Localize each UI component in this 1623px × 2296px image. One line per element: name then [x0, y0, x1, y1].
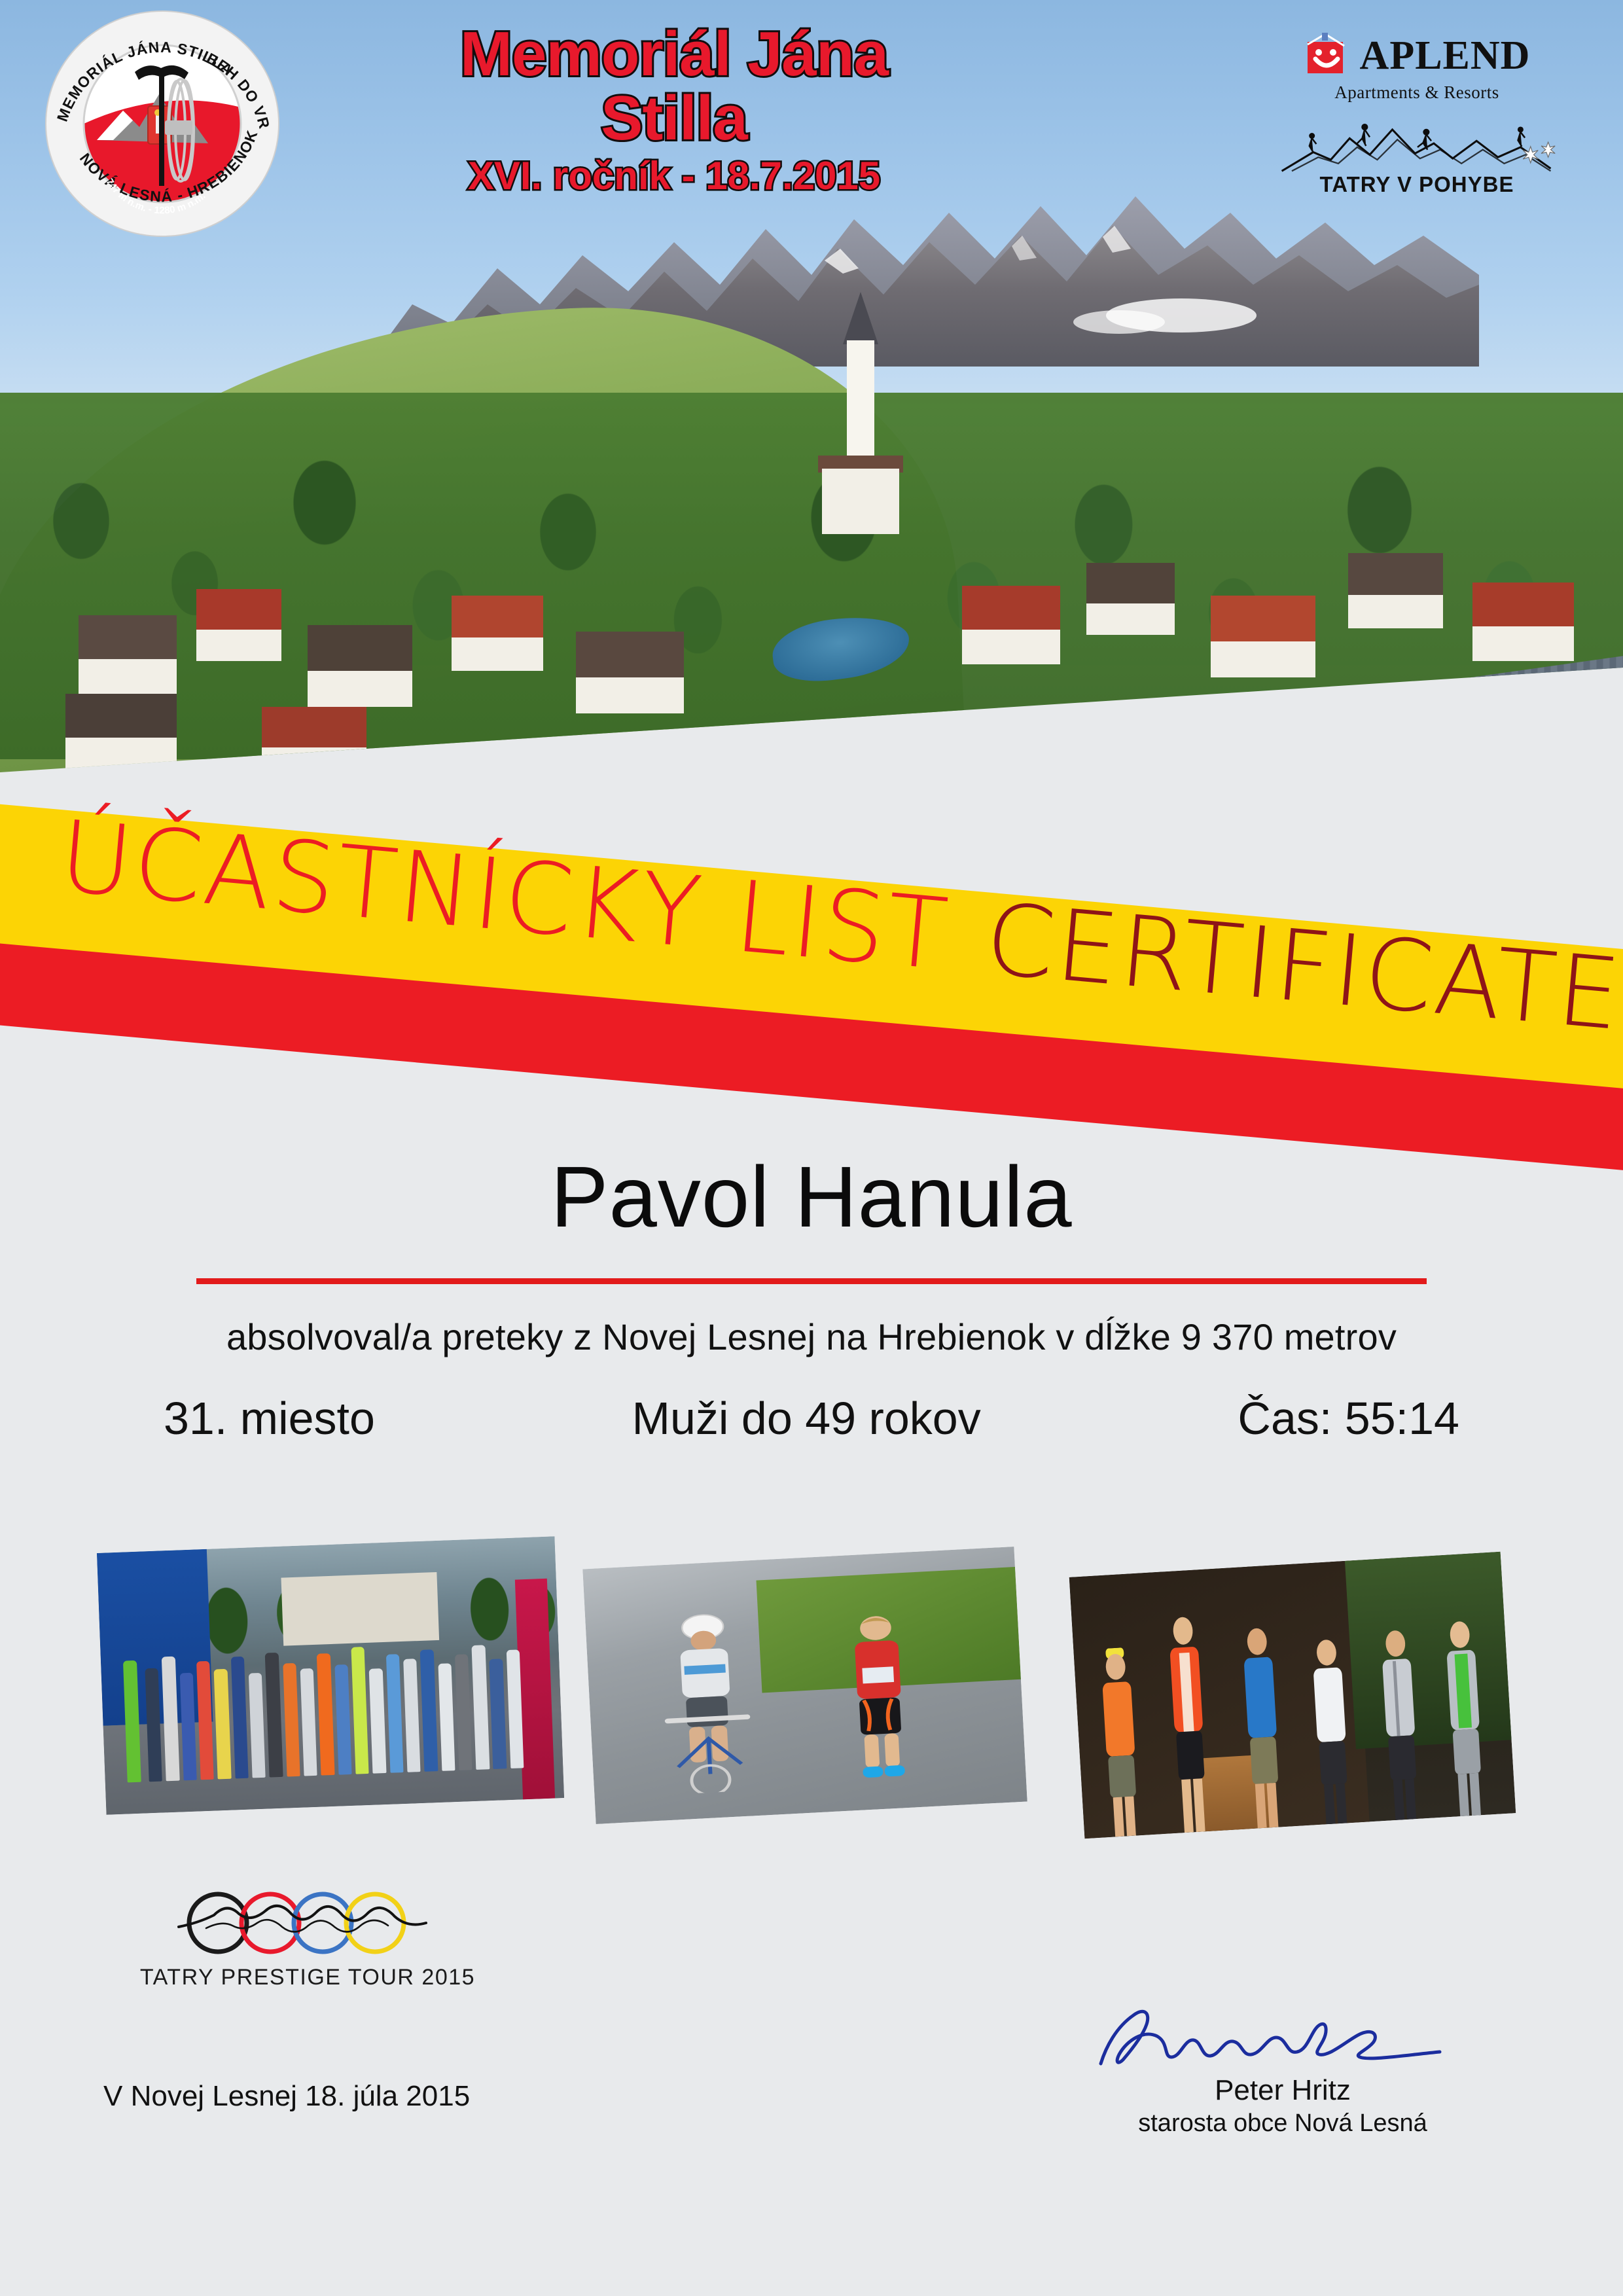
red-divider-rule [196, 1278, 1427, 1284]
village-church [831, 340, 890, 537]
results-row: 31. miesto Muži do 49 rokov Čas: 55:14 [164, 1392, 1459, 1444]
event-logo-badge: MEMORIÁL JÁNA STILLA BEH DO VRCHU NOVÁ L… [25, 9, 300, 238]
signatory-name: Peter Hritz [1086, 2074, 1479, 2107]
event-title-block: Memoriál Jána Stilla XVI. ročník - 18.7.… [380, 22, 969, 198]
prestige-tour-label: TATRY PRESTIGE TOUR 2015 [137, 1965, 478, 1990]
tvp-mountain-icon [1263, 113, 1571, 176]
tatry-v-pohybe-logo: TATRY V POHYBE [1263, 113, 1571, 198]
sponsor-block: APLEND Apartments & Resorts [1263, 33, 1571, 198]
prestige-rings-icon [137, 1885, 478, 1957]
tatry-prestige-tour-logo: TATRY PRESTIGE TOUR 2015 [137, 1885, 478, 1990]
certificate-body: Pavol Hanula absolvoval/a preteky z Nove… [0, 1152, 1623, 1444]
signature-block: Peter Hritz starosta obce Nová Lesná [1086, 2000, 1479, 2138]
aplend-tagline: Apartments & Resorts [1263, 82, 1571, 103]
place-and-date: V Novej Lesnej 18. júla 2015 [103, 2080, 470, 2113]
handwritten-signature [1086, 2000, 1479, 2072]
result-time: Čas: 55:14 [1238, 1392, 1459, 1444]
podium-photo [1069, 1552, 1516, 1839]
race-start-photo [97, 1536, 564, 1814]
signatory-role: starosta obce Nová Lesná [1086, 2109, 1479, 2138]
photo-strip [0, 1525, 1623, 1892]
aplend-house-icon [1304, 33, 1351, 79]
race-description: absolvoval/a preteky z Novej Lesnej na H… [0, 1316, 1623, 1358]
tvp-label: TATRY V POHYBE [1263, 172, 1571, 197]
aplend-wordmark: APLEND [1360, 35, 1531, 76]
cyclist-figure [654, 1607, 758, 1795]
event-subtitle: XVI. ročník - 18.7.2015 [380, 153, 969, 198]
certificate-page: MEMORIÁL JÁNA STILLA BEH DO VRCHU NOVÁ L… [0, 0, 1623, 2296]
event-title: Memoriál Jána Stilla [380, 22, 969, 151]
result-category: Muži do 49 rokov [632, 1392, 981, 1444]
course-photo [582, 1547, 1027, 1824]
runner-figure [836, 1608, 923, 1791]
athlete-name: Pavol Hanula [0, 1152, 1623, 1243]
result-place: 31. miesto [164, 1392, 375, 1444]
